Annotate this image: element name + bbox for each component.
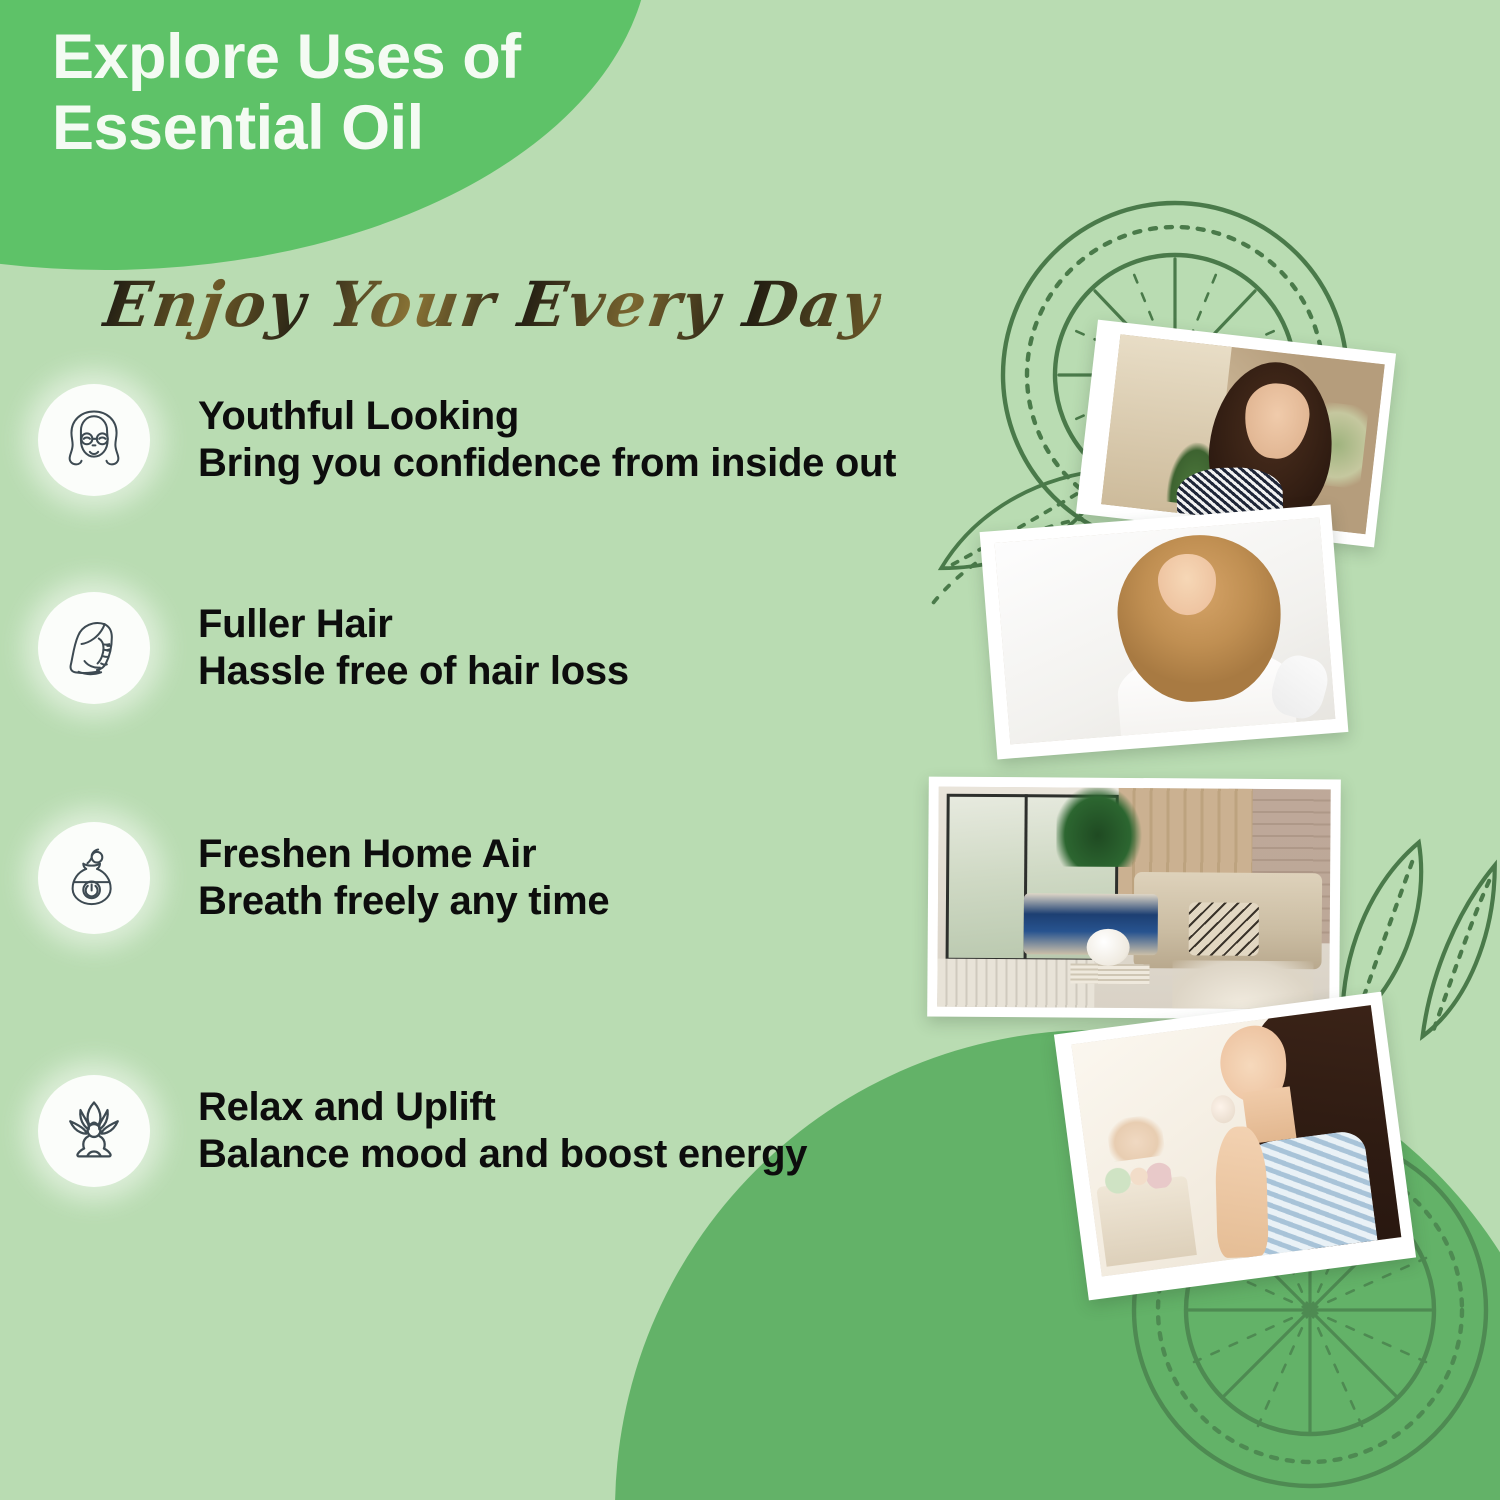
feature-subtitle: Balance mood and boost energy bbox=[198, 1131, 807, 1178]
feature-title: Relax and Uplift bbox=[198, 1084, 807, 1131]
page-title: Explore Uses of Essential Oil bbox=[52, 22, 692, 163]
feature-text-block: Fuller Hair Hassle free of hair loss bbox=[198, 601, 629, 695]
feature-subtitle: Breath freely any time bbox=[198, 878, 609, 925]
photo-perfume-spray bbox=[1054, 992, 1416, 1301]
feature-item-fuller-hair: Fuller Hair Hassle free of hair loss bbox=[38, 592, 629, 704]
photo-boho-living-room-image bbox=[937, 787, 1331, 1010]
feature-item-youthful-looking: Youthful Looking Bring you confidence fr… bbox=[38, 384, 896, 496]
photo-smiling-woman-image bbox=[1101, 334, 1385, 534]
photo-perfume-spray-image bbox=[1071, 1005, 1401, 1276]
feature-text-block: Youthful Looking Bring you confidence fr… bbox=[198, 393, 896, 487]
lotus-meditation-icon bbox=[38, 1075, 150, 1187]
aroma-diffuser-icon bbox=[38, 822, 150, 934]
feature-item-freshen-home-air: Freshen Home Air Breath freely any time bbox=[38, 822, 609, 934]
feature-text-block: Freshen Home Air Breath freely any time bbox=[198, 831, 609, 925]
feature-title: Youthful Looking bbox=[198, 393, 896, 440]
feature-item-relax-and-uplift: Relax and Uplift Balance mood and boost … bbox=[38, 1075, 807, 1187]
long-hair-woman-icon bbox=[38, 592, 150, 704]
feature-title: Freshen Home Air bbox=[198, 831, 609, 878]
essential-oil-infographic: Explore Uses of Essential Oil Enjoy Your… bbox=[0, 0, 1500, 1500]
feature-text-block: Relax and Uplift Balance mood and boost … bbox=[198, 1084, 807, 1178]
tagline: Enjoy Your Every Day bbox=[99, 268, 886, 341]
feature-subtitle: Hassle free of hair loss bbox=[198, 648, 629, 695]
feature-title: Fuller Hair bbox=[198, 601, 629, 648]
page-title-line-2: Essential Oil bbox=[52, 93, 692, 164]
photo-boho-living-room bbox=[927, 777, 1341, 1020]
feature-subtitle: Bring you confidence from inside out bbox=[198, 440, 896, 487]
page-title-line-1: Explore Uses of bbox=[52, 22, 692, 93]
photo-blonde-long-hair bbox=[980, 505, 1349, 760]
face-mask-icon bbox=[38, 384, 150, 496]
photo-blonde-long-hair-image bbox=[994, 517, 1335, 744]
